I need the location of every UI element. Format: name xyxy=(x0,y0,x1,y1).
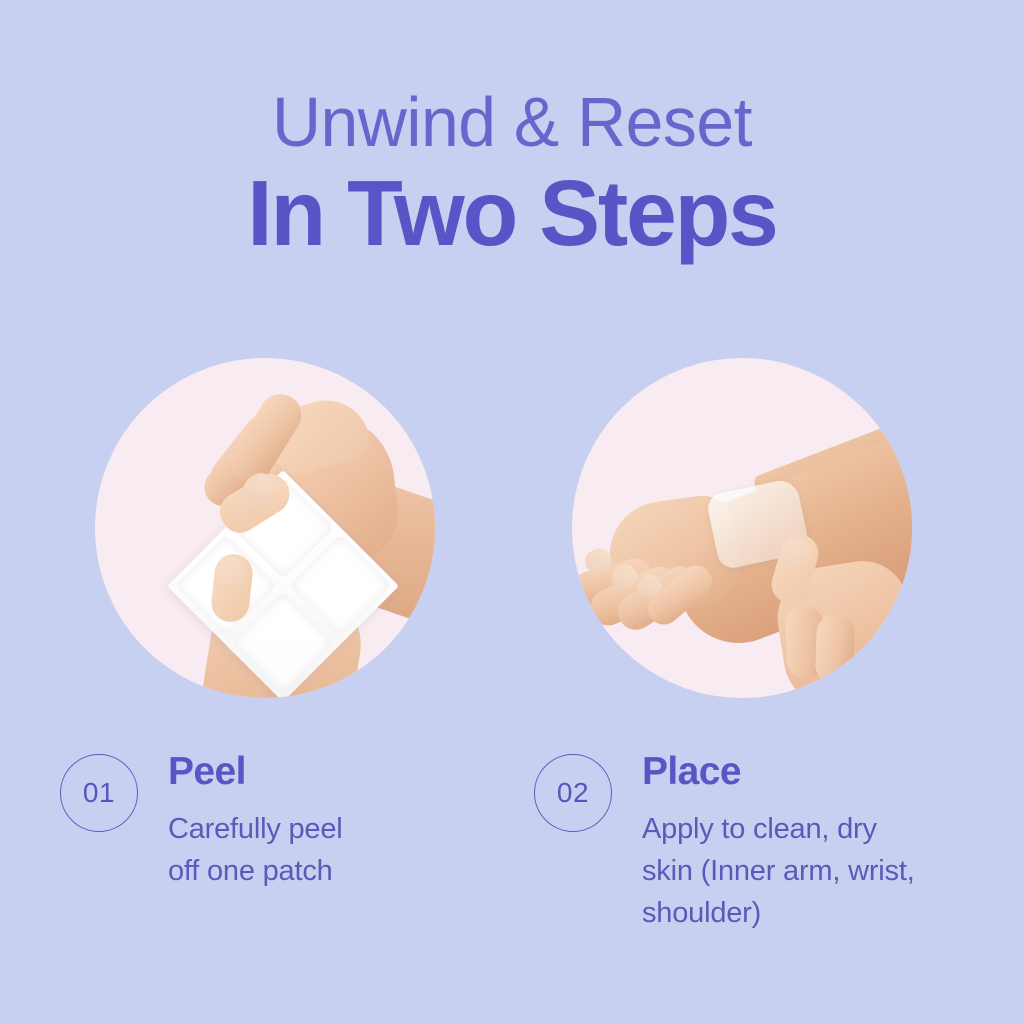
step-title: Place xyxy=(642,750,915,794)
step-description: Apply to clean, dry skin (Inner arm, wri… xyxy=(642,808,915,934)
applying-finger-two xyxy=(815,613,855,684)
heading-line-2: In Two Steps xyxy=(10,164,1014,262)
illustration-row xyxy=(0,358,1024,703)
step-item-01: 01 Peel Carefully peel off one patch xyxy=(60,750,460,892)
step-text-block: Place Apply to clean, dry skin (Inner ar… xyxy=(642,750,915,934)
step-number-badge: 01 xyxy=(60,754,138,832)
steps-section: 01 Peel Carefully peel off one patch 02 … xyxy=(0,750,1024,1024)
heading-block: Unwind & Reset In Two Steps xyxy=(0,82,1024,262)
step-title: Peel xyxy=(168,750,343,794)
place-illustration xyxy=(572,358,912,698)
step-item-02: 02 Place Apply to clean, dry skin (Inner… xyxy=(534,750,964,934)
poster-canvas: Unwind & Reset In Two Steps xyxy=(0,0,1024,1024)
step-text-block: Peel Carefully peel off one patch xyxy=(168,750,343,892)
place-scene xyxy=(572,358,912,698)
heading-line-1: Unwind & Reset xyxy=(15,82,1008,162)
peel-illustration xyxy=(95,358,435,698)
step-number-badge: 02 xyxy=(534,754,612,832)
peel-scene xyxy=(95,358,435,698)
step-description: Carefully peel off one patch xyxy=(168,808,343,892)
